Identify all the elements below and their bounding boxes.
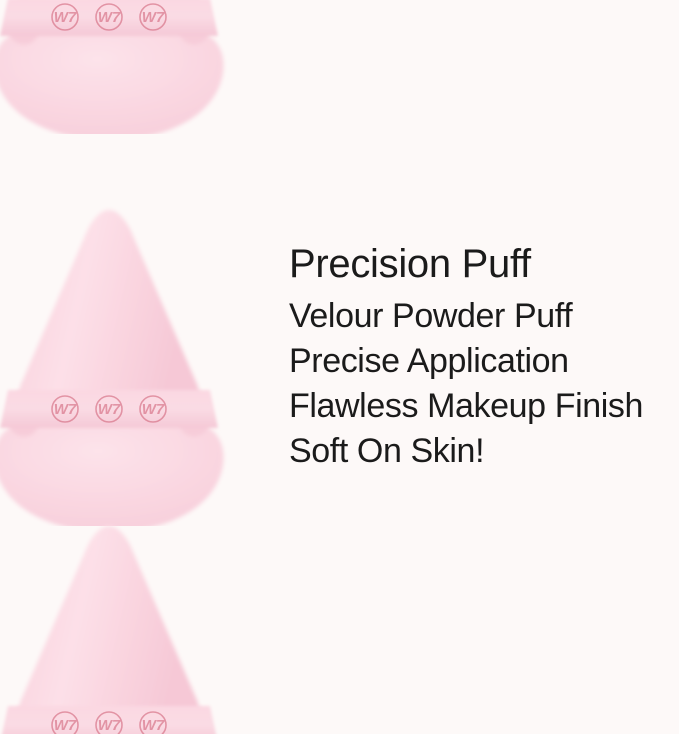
svg-text:W7: W7: [142, 401, 165, 418]
svg-text:W7: W7: [54, 717, 77, 734]
powder-puff-middle: W7 W7 W7: [0, 196, 234, 526]
svg-text:W7: W7: [142, 717, 165, 734]
feature-item: Flawless Makeup Finish: [289, 384, 679, 429]
product-photo-column: W7 W7 W7: [0, 0, 260, 734]
product-image-canvas: W7 W7 W7: [0, 0, 679, 734]
powder-puff-bottom: W7 W7 W7: [0, 512, 234, 734]
svg-text:W7: W7: [142, 9, 165, 26]
product-headline: Precision Puff: [289, 240, 679, 288]
feature-item: Precise Application: [289, 339, 679, 384]
svg-text:W7: W7: [54, 9, 77, 26]
feature-item: Velour Powder Puff: [289, 294, 679, 339]
product-copy-block: Precision Puff Velour Powder Puff Precis…: [289, 240, 679, 474]
powder-puff-top: W7 W7 W7: [0, 0, 234, 134]
svg-text:W7: W7: [98, 9, 121, 26]
svg-text:W7: W7: [98, 717, 121, 734]
svg-text:W7: W7: [98, 401, 121, 418]
product-feature-list: Velour Powder Puff Precise Application F…: [289, 294, 679, 474]
svg-text:W7: W7: [54, 401, 77, 418]
feature-item: Soft On Skin!: [289, 429, 679, 474]
